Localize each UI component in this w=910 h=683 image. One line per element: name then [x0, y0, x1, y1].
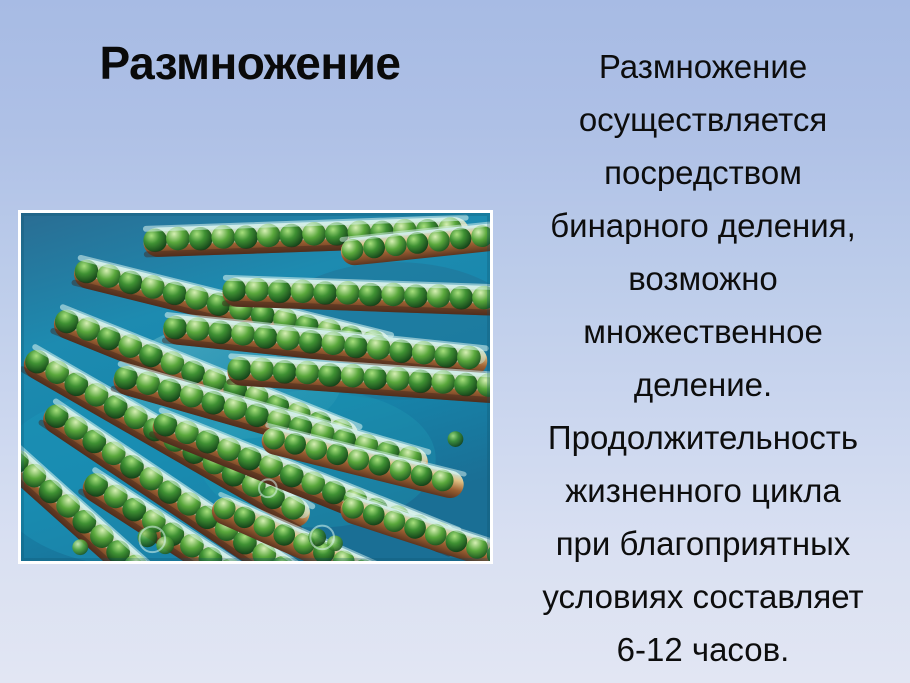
- body-line: осуществляется: [503, 93, 903, 146]
- body-line: при благоприятных: [503, 517, 903, 570]
- body-line: посредством: [503, 146, 903, 199]
- photo-frame: [18, 210, 493, 564]
- body-text: Размножение осуществляется посредством б…: [503, 40, 903, 676]
- body-line: Размножение: [503, 40, 903, 93]
- micrograph-image: [21, 213, 490, 561]
- body-line: жизненного цикла: [503, 464, 903, 517]
- body-line: Продолжительность: [503, 411, 903, 464]
- body-line: множественное: [503, 305, 903, 358]
- page-title: Размножение: [40, 38, 460, 89]
- slide-root: Размножение: [0, 0, 910, 683]
- micrograph-svg: [21, 213, 490, 561]
- body-line: деление.: [503, 358, 903, 411]
- body-line: 6-12 часов.: [503, 623, 903, 676]
- body-line: условиях составляет: [503, 570, 903, 623]
- body-line: бинарного деления,: [503, 199, 903, 252]
- body-line: возможно: [503, 252, 903, 305]
